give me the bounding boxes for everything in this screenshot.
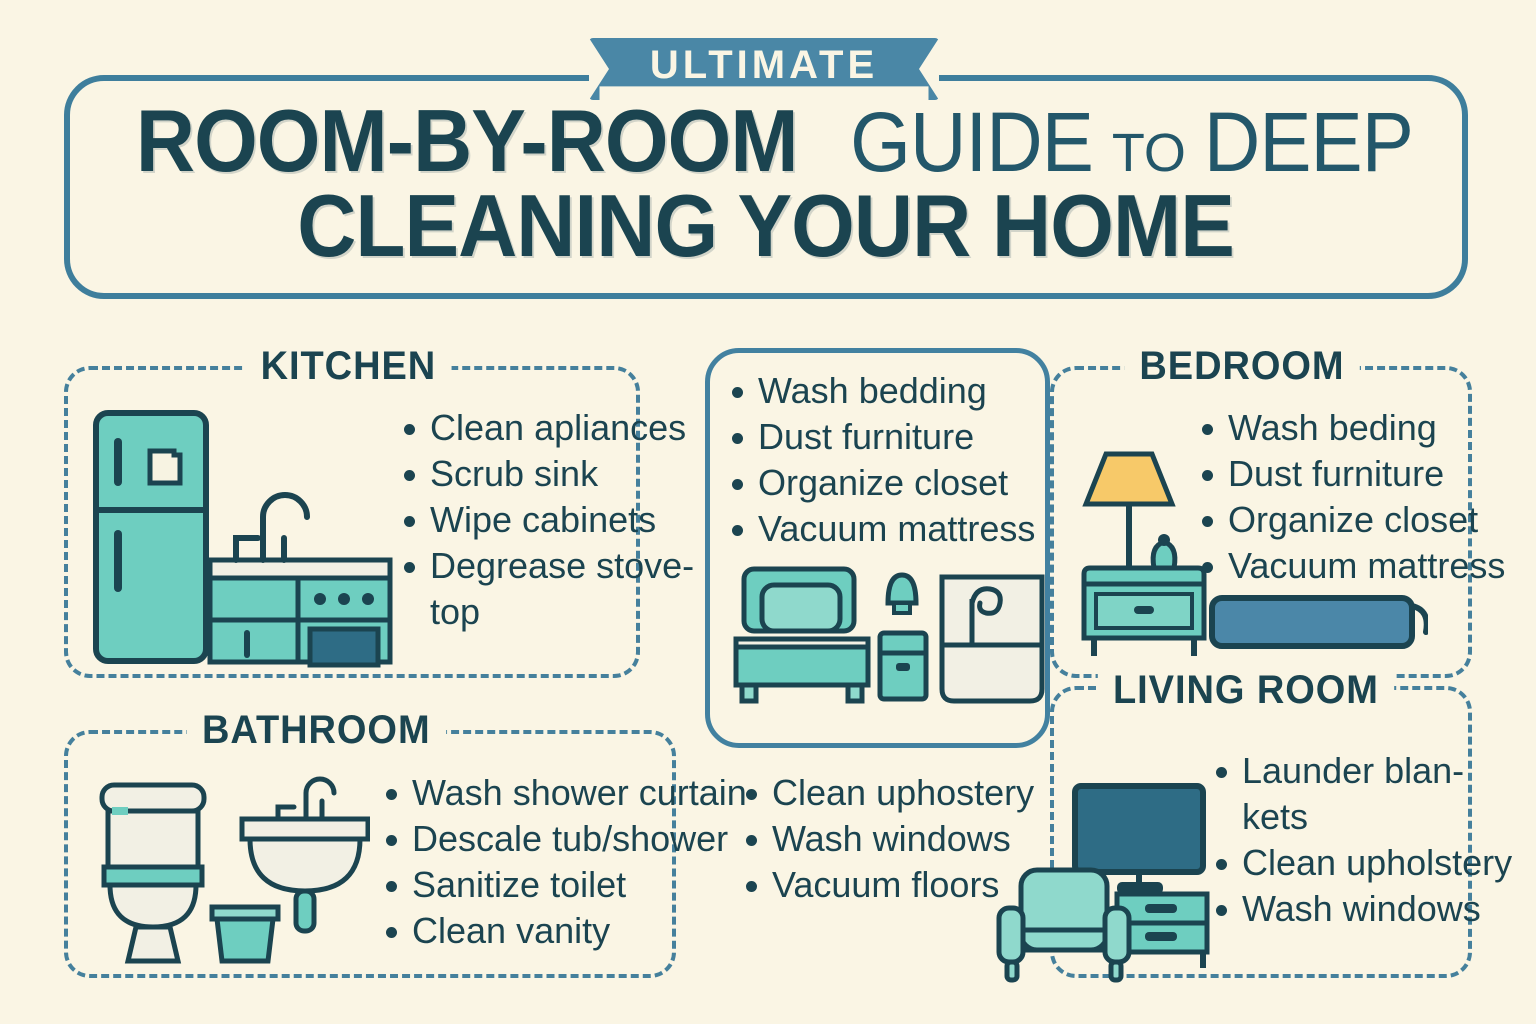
title-deep: DEEP	[1204, 103, 1413, 182]
bucket-icon	[212, 907, 278, 961]
task-list-living-room: Launder blan-kets Clean upholstery Wash …	[1212, 748, 1492, 932]
section-title-bathroom: BATHROOM	[187, 708, 446, 753]
center-bedroom-illustration	[728, 555, 1064, 715]
task-item: Vacuum floors	[742, 862, 1042, 908]
task-item: Scrub sink	[400, 451, 700, 497]
task-item: Dust furniture	[1198, 451, 1498, 497]
ribbon-notch-right	[919, 38, 939, 100]
task-item: Vacuum mattress	[728, 506, 1058, 552]
task-item: Wash windows	[1212, 886, 1492, 932]
task-item: Vacuum mattress	[1198, 543, 1498, 589]
task-item: Wash beding	[1198, 405, 1498, 451]
stove-oven-icon	[298, 578, 390, 665]
nightstand-icon	[1084, 534, 1204, 656]
section-title-kitchen: KITCHEN	[245, 344, 451, 389]
title-room-by-room: ROOM-BY-ROOM	[136, 100, 798, 183]
task-item: Clean uphostery	[742, 770, 1042, 816]
bed-icon	[736, 569, 868, 701]
task-list-bedroom: Wash beding Dust furniture Organize clos…	[1198, 405, 1498, 589]
bed-base-icon	[1212, 598, 1427, 646]
ribbon-label: ULTIMATE	[650, 43, 878, 88]
task-item: Wash windows	[742, 816, 1042, 862]
task-item: Degrease stove-top	[400, 543, 720, 635]
task-item: Organize closet	[1198, 497, 1498, 543]
section-title-bedroom: BEDROOM	[1124, 344, 1359, 389]
bathroom-illustration	[90, 775, 370, 965]
task-item: Organize closet	[728, 460, 1058, 506]
task-item: Wash shower curtain	[382, 770, 732, 816]
task-item: Wipe cabinets	[400, 497, 700, 543]
task-item: Dust furniture	[728, 414, 1058, 460]
title-cleaning-your-home: CLEANING YOUR HOME	[298, 185, 1235, 268]
task-list-bathroom: Wash shower curtain Descale tub/shower S…	[382, 770, 732, 954]
task-item: Clean vanity	[382, 908, 732, 954]
toilet-icon	[102, 785, 204, 961]
shower-bath-icon	[942, 577, 1042, 701]
section-title-living-room: LIVING ROOM	[1098, 668, 1394, 713]
title-guide: GUIDE	[850, 103, 1093, 182]
task-list-center-bottom: Clean uphostery Wash windows Vacuum floo…	[742, 770, 1042, 908]
title-line-1: ROOM-BY-ROOMGUIDETODEEP	[64, 100, 1468, 183]
title-to: TO	[1112, 128, 1186, 179]
task-item: Clean apliances	[400, 405, 700, 451]
ribbon-notch-left	[589, 38, 609, 100]
title-line-2: CLEANING YOUR HOME	[64, 185, 1468, 268]
refrigerator-icon	[96, 413, 206, 661]
task-item: Clean upholstery	[1212, 840, 1492, 886]
nightstand-lamp-icon	[880, 575, 926, 699]
infographic-canvas: ULTIMATE ROOM-BY-ROOMGUIDETODEEP CLEANIN…	[0, 0, 1536, 1024]
task-list-center-top: Wash bedding Dust furniture Organize clo…	[728, 368, 1058, 552]
page-title: ROOM-BY-ROOMGUIDETODEEP CLEANING YOUR HO…	[64, 100, 1468, 267]
task-list-kitchen: Clean apliances Scrub sink Wipe cabinets…	[400, 405, 700, 635]
kitchen-illustration	[88, 405, 408, 670]
task-item: Wash bedding	[728, 368, 1058, 414]
task-item: Launder blan-kets	[1212, 748, 1492, 840]
task-item: Descale tub/shower	[382, 816, 732, 862]
task-item: Sanitize toilet	[382, 862, 732, 908]
